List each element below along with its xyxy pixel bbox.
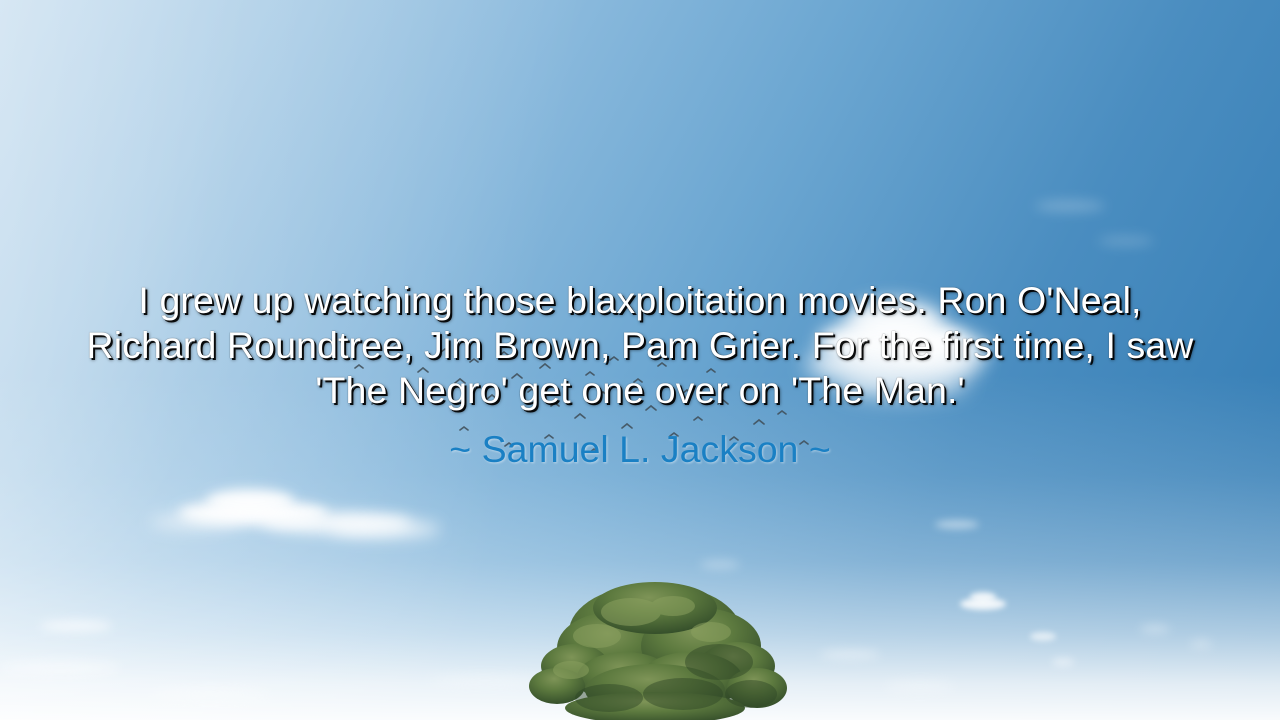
quote-text-block: I grew up watching those blaxploitation …	[0, 278, 1280, 472]
quote-attribution: ~ Samuel L. Jackson ~	[85, 427, 1195, 472]
quote-image-card: I grew up watching those blaxploitation …	[0, 0, 1280, 720]
quote-text: I grew up watching those blaxploitation …	[85, 278, 1195, 413]
